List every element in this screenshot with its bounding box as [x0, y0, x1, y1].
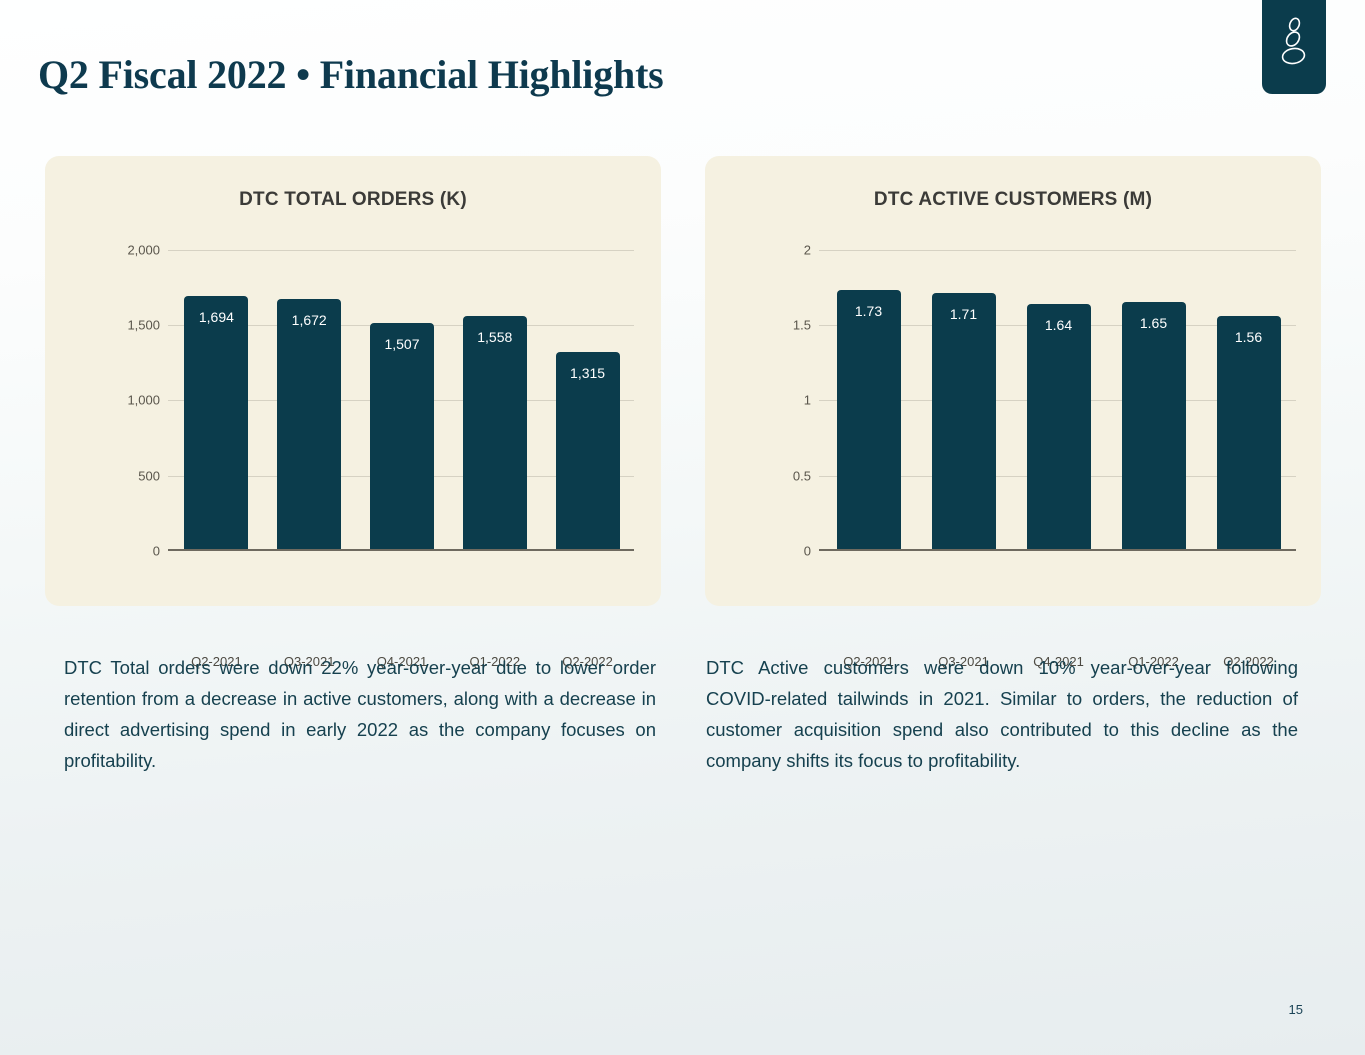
y-tick-label: 1: [773, 393, 811, 408]
bar-value-label: 1.73: [855, 303, 882, 319]
bar-value-label: 1.65: [1140, 315, 1167, 331]
bar[interactable]: 1.65: [1122, 302, 1186, 549]
bar-slot: 1,558: [448, 195, 541, 549]
bar[interactable]: 1,694: [184, 296, 248, 550]
bar[interactable]: 1,315: [556, 352, 620, 549]
page-number: 15: [1289, 1002, 1303, 1017]
bar[interactable]: 1.64: [1027, 304, 1091, 549]
bar-series: 1.73 1.71 1.64 1.65 1.56: [821, 195, 1296, 549]
plot-area: 2,000 1,500 1,000 500 0 1,694 1,672 1,50…: [120, 250, 634, 551]
bar-slot: 1.71: [916, 195, 1011, 549]
bar-value-label: 1.71: [950, 306, 977, 322]
bar-value-label: 1,558: [477, 329, 512, 345]
bar-slot: 1,507: [356, 195, 449, 549]
bar-slot: 1.65: [1106, 195, 1201, 549]
bar-series: 1,694 1,672 1,507 1,558 1,315: [170, 195, 634, 549]
bar-slot: 1,694: [170, 195, 263, 549]
commentary-total-orders: DTC Total orders were down 22% year-over…: [64, 652, 656, 776]
y-tick-label: 2,000: [120, 243, 160, 258]
company-logo-badge: [1262, 0, 1326, 94]
page-title: Q2 Fiscal 2022 • Financial Highlights: [38, 51, 664, 98]
bar[interactable]: 1,558: [463, 316, 527, 549]
stacked-stones-logo-icon: [1279, 11, 1309, 69]
y-tick-label: 0: [120, 544, 160, 559]
commentary-active-customers: DTC Active customers were down 10% year-…: [706, 652, 1298, 776]
y-tick-label: 500: [120, 469, 160, 484]
bar-value-label: 1,672: [292, 312, 327, 328]
bar-value-label: 1,315: [570, 365, 605, 381]
bar-value-label: 1,507: [384, 336, 419, 352]
chart-card-active-customers: DTC ACTIVE CUSTOMERS (M) 2 1.5 1 0.5 0 1…: [705, 156, 1321, 606]
bar-value-label: 1.64: [1045, 317, 1072, 333]
y-tick-label: 1.5: [773, 318, 811, 333]
bar-slot: 1,315: [541, 195, 634, 549]
chart-card-total-orders: DTC TOTAL ORDERS (K) 2,000 1,500 1,000 5…: [45, 156, 661, 606]
y-tick-label: 1,000: [120, 393, 160, 408]
bar-slot: 1,672: [263, 195, 356, 549]
bar-value-label: 1,694: [199, 309, 234, 325]
bar-slot: 1.56: [1201, 195, 1296, 549]
x-axis-line: [168, 549, 634, 551]
bar[interactable]: 1,507: [370, 323, 434, 549]
bar[interactable]: 1.56: [1217, 316, 1281, 549]
bar[interactable]: 1.73: [837, 290, 901, 549]
bar[interactable]: 1.71: [932, 293, 996, 549]
bar-slot: 1.73: [821, 195, 916, 549]
y-tick-label: 2: [773, 243, 811, 258]
bar-value-label: 1.56: [1235, 329, 1262, 345]
bar-slot: 1.64: [1011, 195, 1106, 549]
bar[interactable]: 1,672: [277, 299, 341, 549]
y-tick-label: 0: [773, 544, 811, 559]
plot-area: 2 1.5 1 0.5 0 1.73 1.71 1.64: [773, 250, 1296, 551]
x-axis-line: [819, 549, 1296, 551]
y-tick-label: 0.5: [773, 469, 811, 484]
y-tick-label: 1,500: [120, 318, 160, 333]
